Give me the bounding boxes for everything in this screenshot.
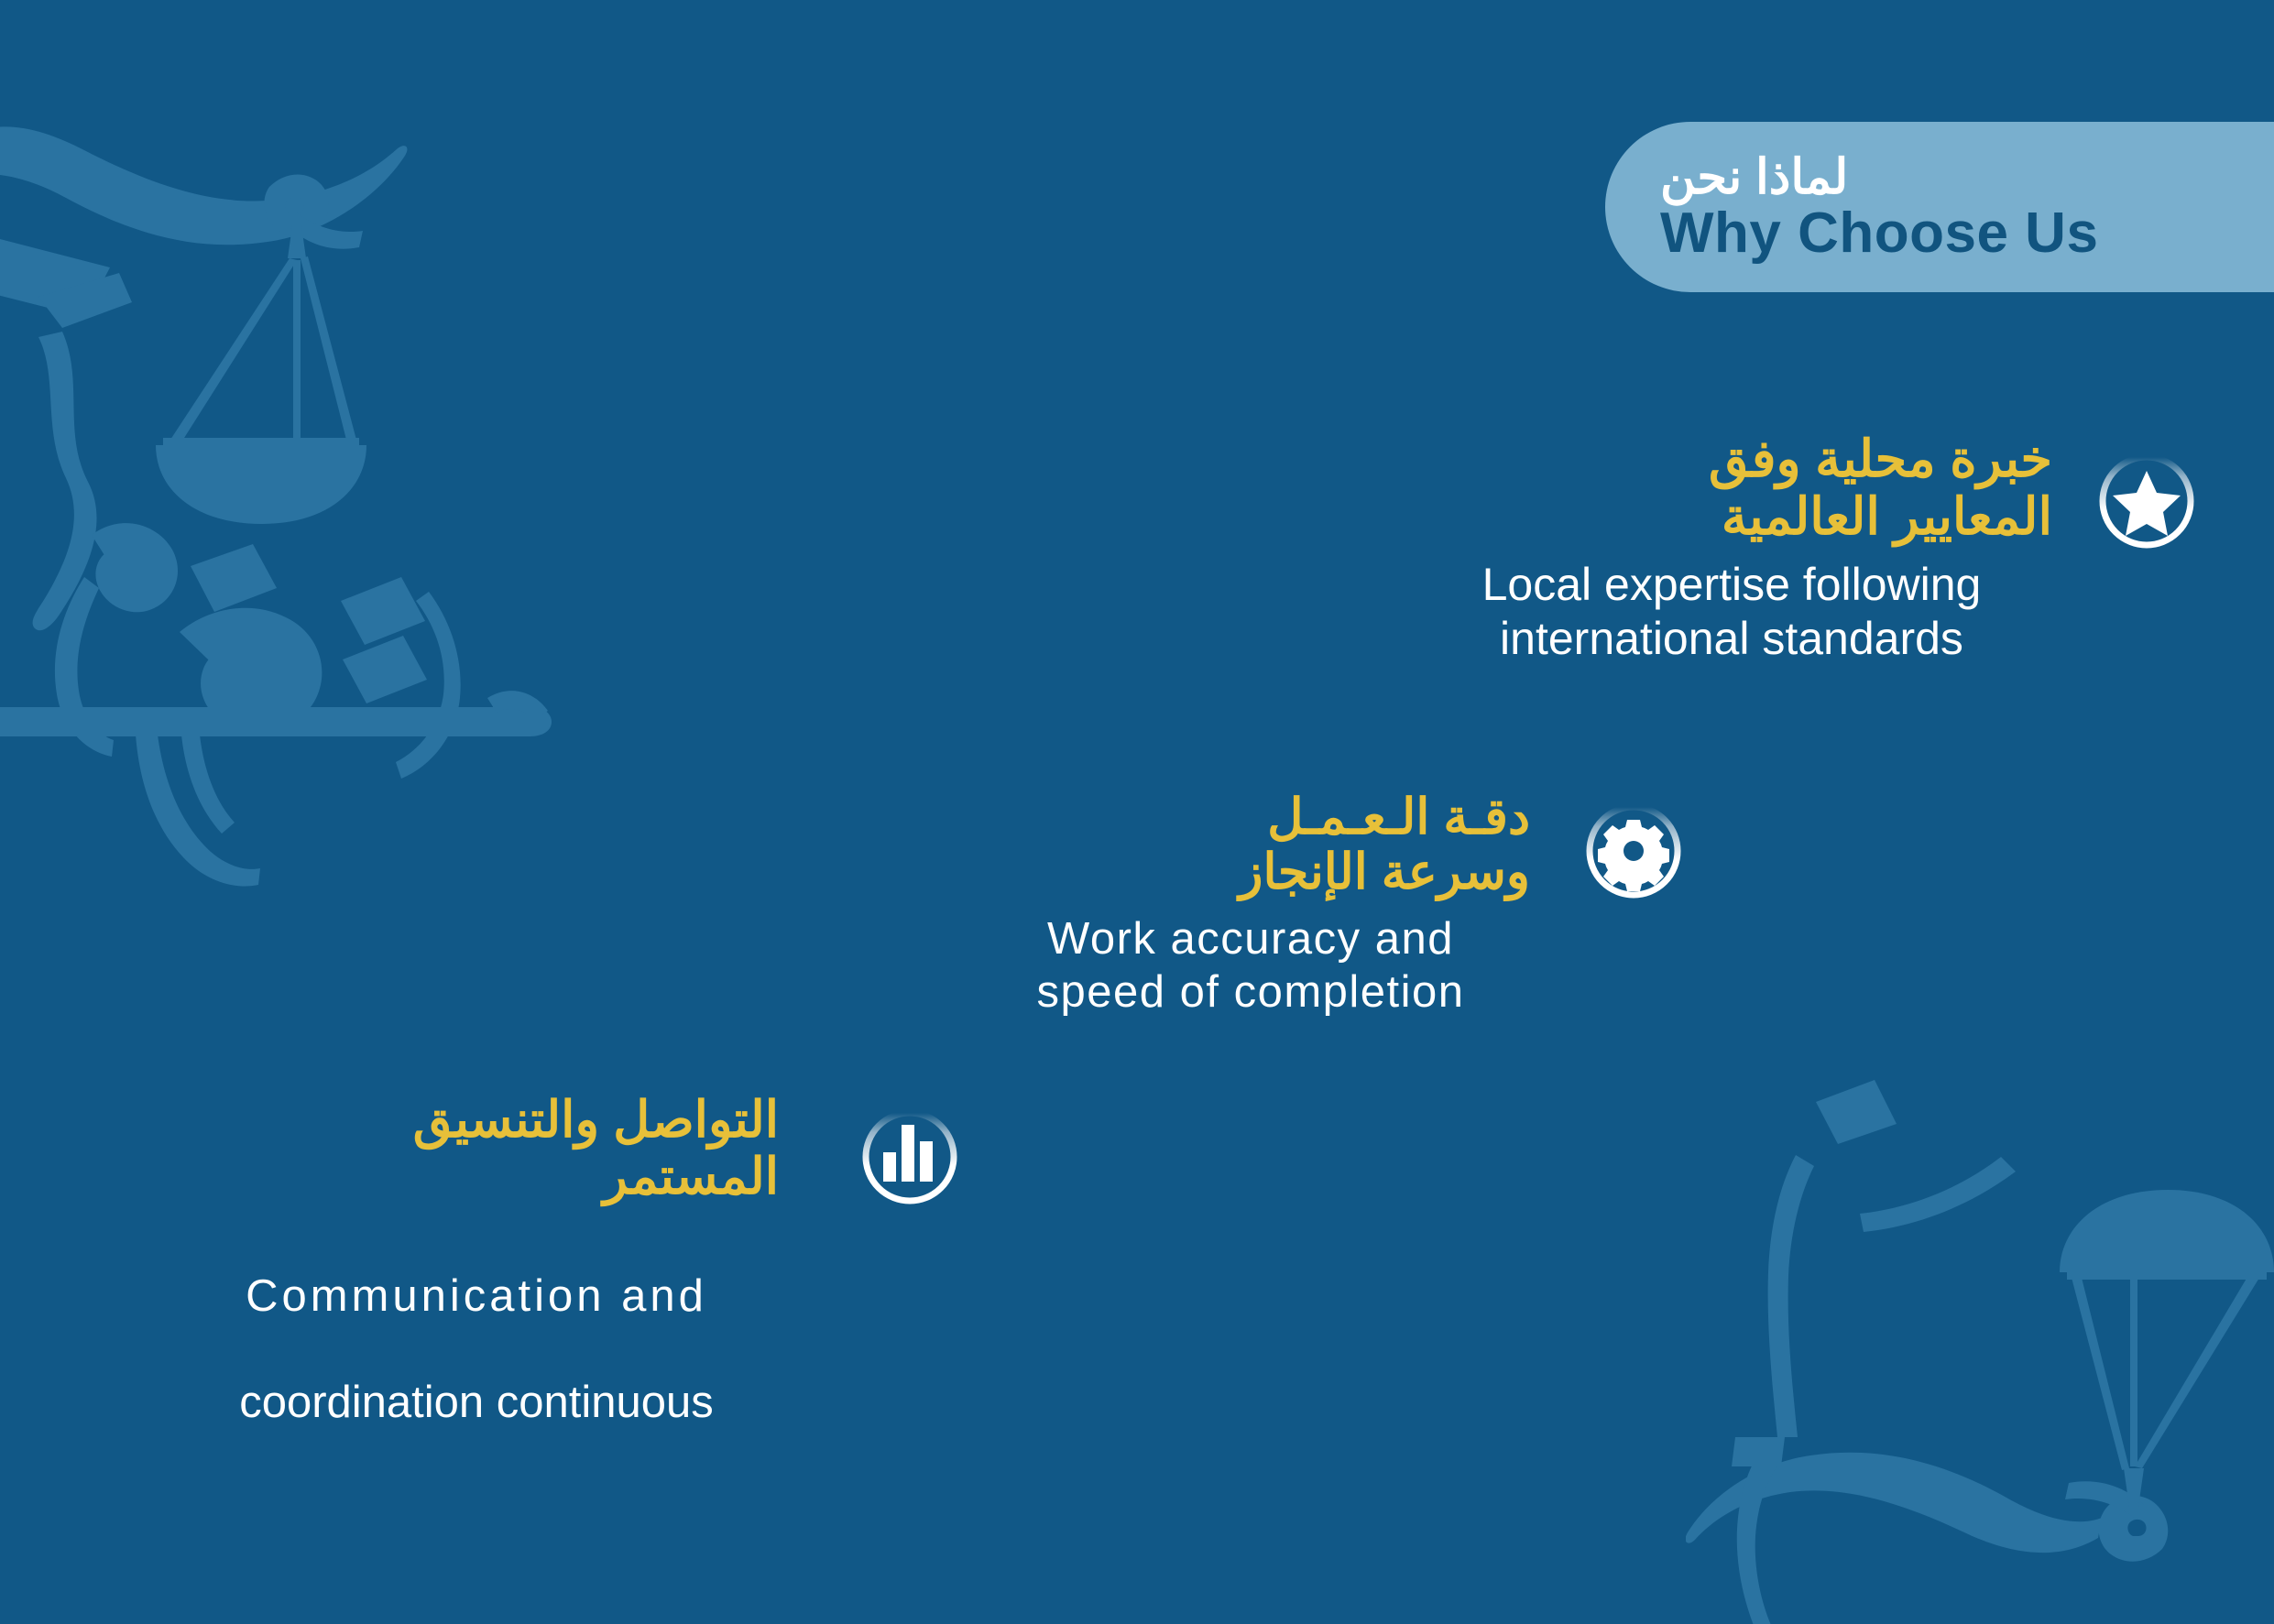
- scales-of-justice-watermark-top-left: [0, 79, 597, 958]
- slide-canvas: لماذا نحن Why Choose Us: [0, 0, 2274, 1624]
- badge-title-arabic: لماذا نحن: [1660, 153, 1848, 202]
- feature-title-arabic: دقـة الـعـمـل وسرعة الإنجاز: [971, 790, 1530, 900]
- feature-description-english: Work accuracy and speed of completion: [971, 913, 1530, 1019]
- feature-description-line-2: coordination continuous: [239, 1378, 714, 1427]
- gear-icon: [1581, 799, 1686, 903]
- bar-chart-icon: [858, 1105, 962, 1209]
- feature-block-communication: التواصل والتنسيق المستمر Communication a…: [174, 1092, 779, 1429]
- feature-title-arabic: خبرة محلية وفق المعايير العالمية: [1411, 431, 2052, 545]
- badge-title-english: Why Choose Us: [1660, 205, 2098, 262]
- scales-of-justice-watermark-bottom-right: [1686, 1016, 2274, 1624]
- why-choose-us-badge: لماذا نحن Why Choose Us: [1605, 122, 2274, 292]
- star-icon: [2094, 449, 2199, 553]
- feature-description-english: Communication and coordination continuou…: [174, 1217, 779, 1429]
- feature-description-english: Local expertise following international …: [1411, 558, 2052, 666]
- feature-block-local-expertise: خبرة محلية وفق المعايير العالمية Local e…: [1411, 431, 2052, 666]
- feature-block-work-accuracy: دقـة الـعـمـل وسرعة الإنجاز Work accurac…: [971, 790, 1530, 1019]
- feature-title-arabic: التواصل والتنسيق المستمر: [174, 1092, 779, 1204]
- feature-description-line-1: Communication and: [246, 1271, 707, 1321]
